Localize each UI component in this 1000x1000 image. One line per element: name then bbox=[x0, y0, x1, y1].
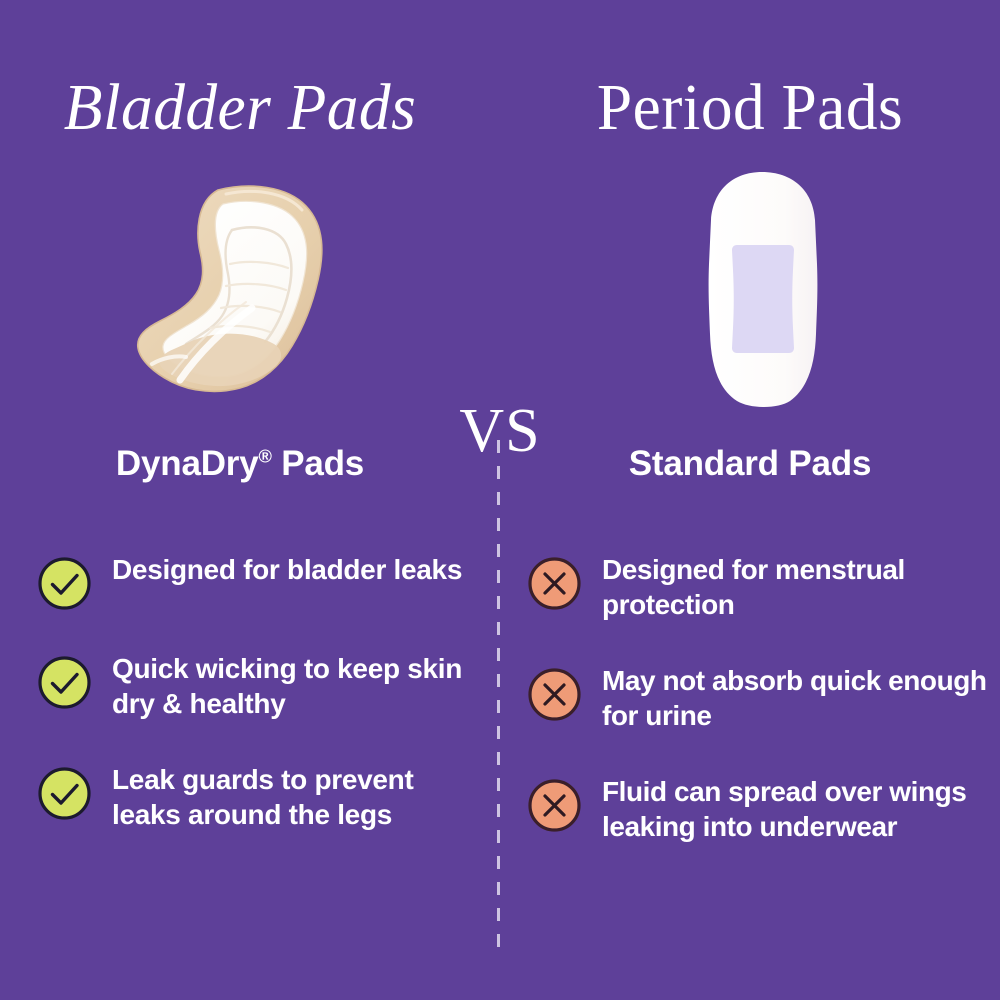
feature-row: Designed for bladder leaks bbox=[38, 548, 478, 610]
feature-row: May not absorb quick enough for urine bbox=[528, 659, 988, 733]
headings-row: Bladder Pads Period Pads bbox=[0, 62, 1000, 162]
feature-row: Leak guards to prevent leaks around the … bbox=[38, 758, 478, 832]
subtitle-dynadry-suffix: Pads bbox=[272, 444, 364, 483]
comparison-infographic: Bladder Pads Period Pads bbox=[0, 0, 1000, 1000]
feature-row: Designed for menstrual protection bbox=[528, 548, 988, 622]
check-circle-icon bbox=[38, 557, 91, 610]
bladder-pad-illustration bbox=[122, 168, 362, 408]
registered-trademark-icon: ® bbox=[258, 446, 271, 466]
feature-row: Fluid can spread over wings leaking into… bbox=[528, 770, 988, 844]
feature-text: Fluid can spread over wings leaking into… bbox=[602, 770, 988, 844]
features-section: Designed for bladder leaks Quick wicking… bbox=[0, 548, 1000, 968]
x-circle-icon bbox=[528, 557, 581, 610]
heading-bladder-pads: Bladder Pads bbox=[10, 62, 471, 154]
product-images-row: VS bbox=[0, 168, 1000, 418]
x-circle-icon bbox=[528, 668, 581, 721]
features-column-dynadry: Designed for bladder leaks Quick wicking… bbox=[38, 548, 478, 832]
period-pad-illustration bbox=[680, 168, 845, 413]
subtitle-standard-pads: Standard Pads bbox=[500, 440, 1000, 488]
feature-text: Quick wicking to keep skin dry & healthy bbox=[112, 647, 478, 721]
feature-text: Designed for menstrual protection bbox=[602, 548, 988, 622]
feature-text: Designed for bladder leaks bbox=[112, 548, 478, 587]
feature-row: Quick wicking to keep skin dry & healthy bbox=[38, 647, 478, 721]
check-circle-icon bbox=[38, 767, 91, 820]
feature-text: Leak guards to prevent leaks around the … bbox=[112, 758, 478, 832]
subtitle-dynadry-pads: DynaDry® Pads bbox=[0, 440, 480, 488]
subtitle-dynadry-name: DynaDry bbox=[116, 444, 259, 483]
heading-period-pads: Period Pads bbox=[510, 62, 990, 154]
feature-text: May not absorb quick enough for urine bbox=[602, 659, 988, 733]
x-circle-icon bbox=[528, 779, 581, 832]
subtitles-row: DynaDry® Pads Standard Pads bbox=[0, 440, 1000, 494]
features-column-standard: Designed for menstrual protection May no… bbox=[528, 548, 988, 844]
check-circle-icon bbox=[38, 656, 91, 709]
